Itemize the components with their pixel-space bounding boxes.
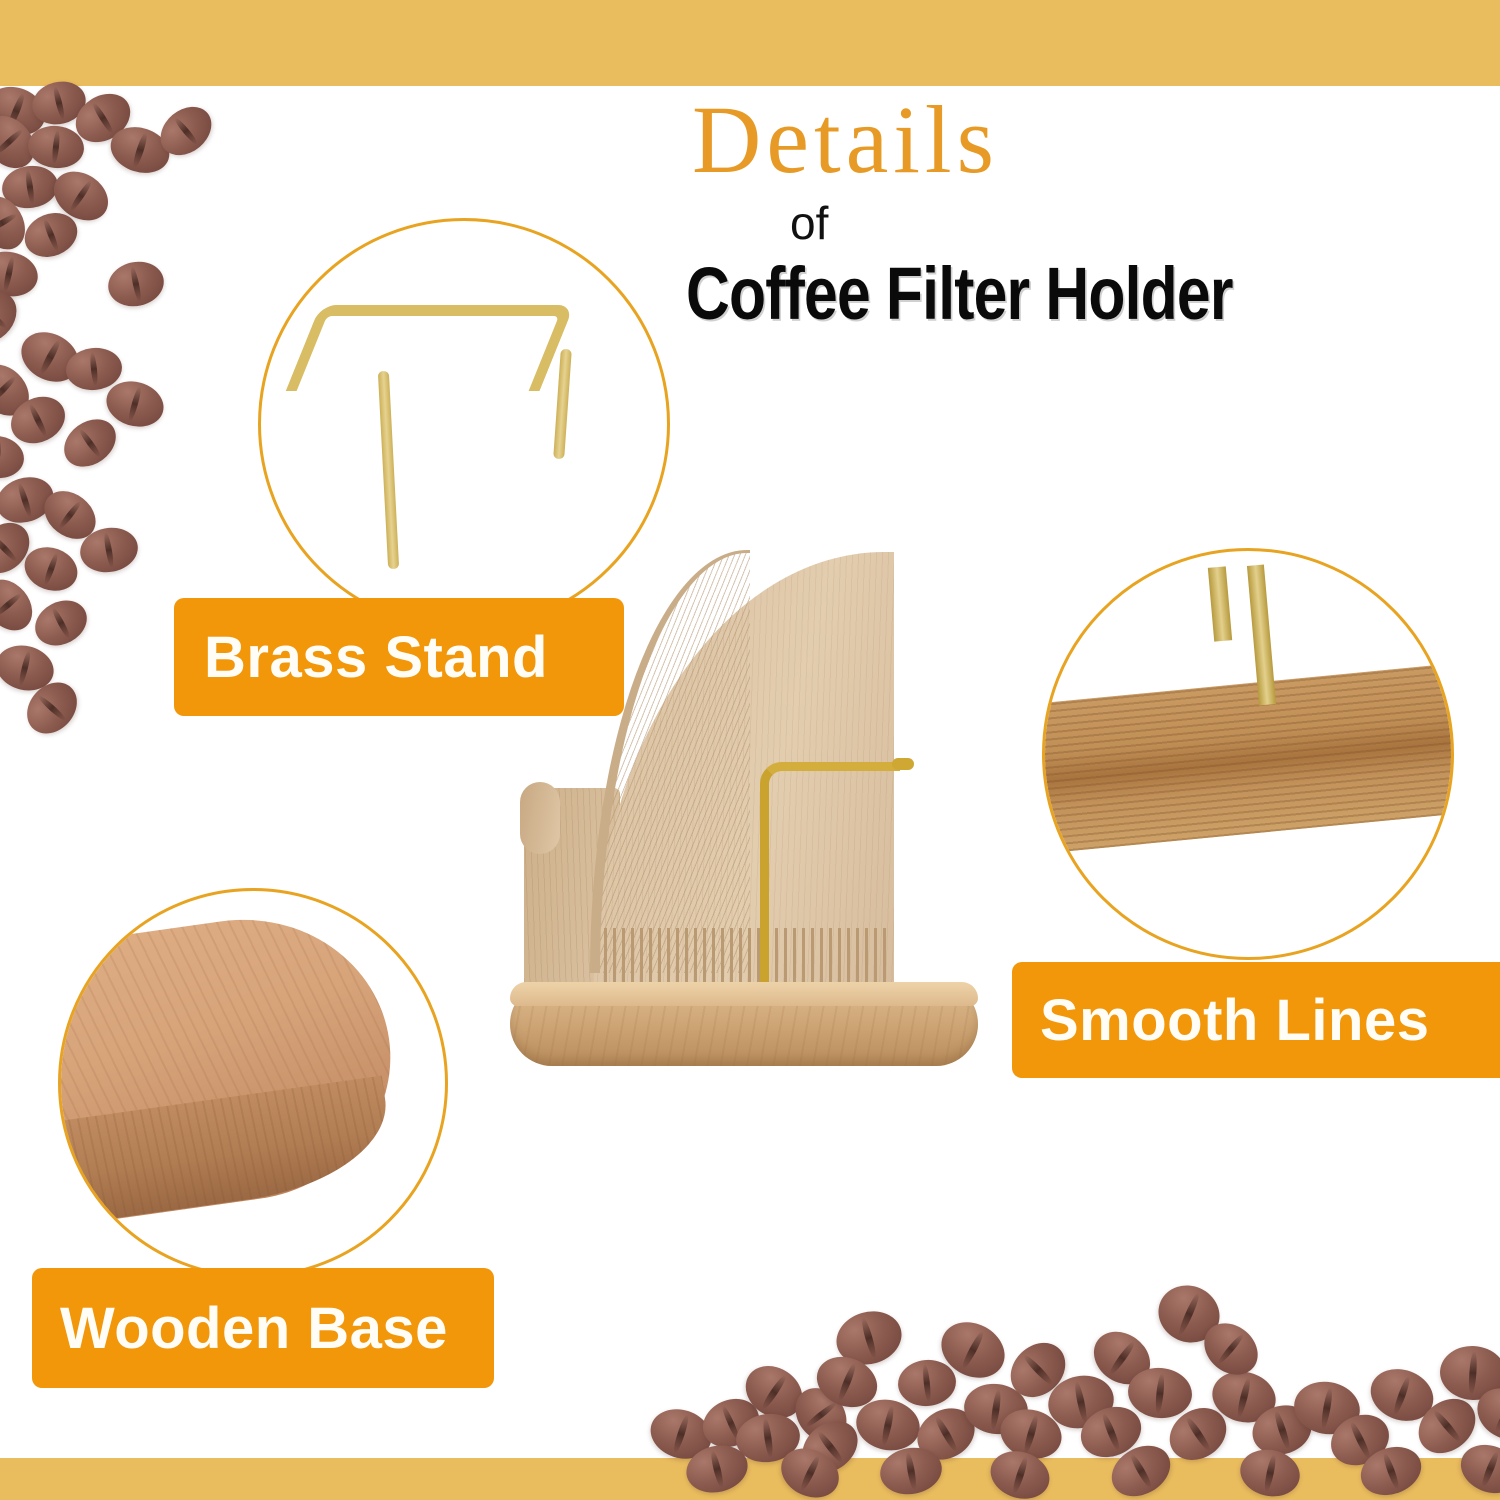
- coffee-beans-pile-bottom-right: [640, 1250, 1500, 1462]
- callout-label-smooth-lines[interactable]: Smooth Lines: [1012, 962, 1500, 1078]
- title-connector-word: of: [686, 198, 1476, 249]
- product-brass-bracket-tip: [892, 758, 914, 770]
- page-title: Details of Coffee Filter Holder: [686, 92, 1476, 331]
- title-product-name: Coffee Filter Holder: [686, 257, 1334, 331]
- title-accent-word: Details: [686, 92, 1476, 188]
- product-filter-knob: [520, 782, 560, 854]
- callout-label-text: Brass Stand: [204, 624, 548, 691]
- product-brass-bracket: [760, 762, 900, 988]
- callout-circle-wooden-base: [58, 888, 448, 1278]
- top-border-bar: [0, 0, 1500, 86]
- callout-label-text: Wooden Base: [60, 1295, 448, 1362]
- callout-label-text: Smooth Lines: [1040, 987, 1429, 1054]
- product-photo-coffee-filter-holder: [498, 530, 998, 1075]
- product-wooden-base-top: [510, 982, 978, 1006]
- callout-circle-smooth-lines: [1042, 548, 1454, 960]
- product-filter-stack-edge: [590, 550, 750, 973]
- callout-label-wooden-base[interactable]: Wooden Base: [32, 1268, 494, 1388]
- product-detail-infographic: Details of Coffee Filter Holder Brass St…: [0, 0, 1500, 1500]
